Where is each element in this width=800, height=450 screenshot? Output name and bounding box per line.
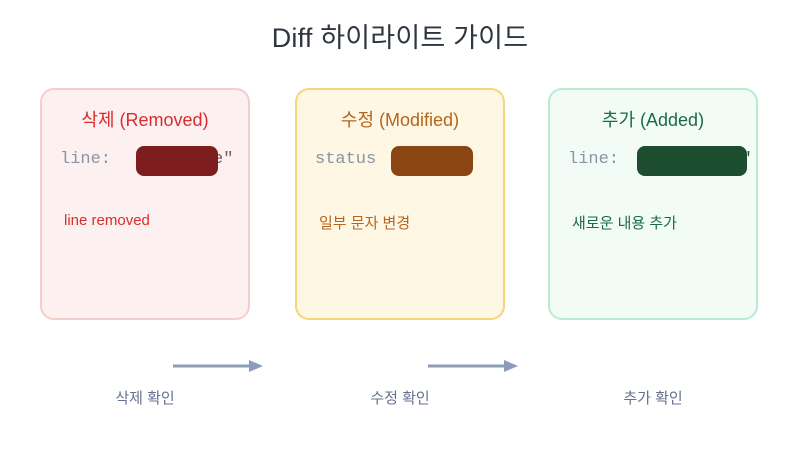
card-removed-code-prefix: line: bbox=[60, 150, 121, 169]
card-modified-title: 수정 (Modified) bbox=[297, 106, 503, 132]
card-added-code-prefix: line: bbox=[568, 150, 619, 169]
card-modified-note: 일부 문자 변경 bbox=[319, 212, 410, 233]
card-modified[interactable]: 수정 (Modified) status t" 일부 문자 변경 bbox=[295, 88, 505, 320]
caption-added: 추가 확인 bbox=[548, 387, 758, 408]
card-added[interactable]: 추가 (Added) line: lue" 새로운 내용 추가 bbox=[548, 88, 758, 320]
caption-removed: 삭제 확인 bbox=[40, 387, 250, 408]
card-removed-note: line removed bbox=[64, 212, 150, 229]
highlight-block-added bbox=[637, 146, 747, 176]
flow-arrow-icon-2 bbox=[428, 358, 518, 374]
card-added-note: 새로운 내용 추가 bbox=[572, 212, 677, 233]
highlight-block-modified bbox=[391, 146, 473, 176]
page-title: Diff 하이라이트 가이드 bbox=[0, 16, 800, 55]
caption-modified: 수정 확인 bbox=[295, 387, 505, 408]
card-modified-code-prefix: status bbox=[315, 150, 376, 169]
card-removed-title: 삭제 (Removed) bbox=[42, 106, 248, 132]
card-removed[interactable]: 삭제 (Removed) line: alue" line removed bbox=[40, 88, 250, 320]
card-added-title: 추가 (Added) bbox=[550, 106, 756, 132]
highlight-block-removed bbox=[136, 146, 218, 176]
flow-arrow-icon-1 bbox=[173, 358, 263, 374]
